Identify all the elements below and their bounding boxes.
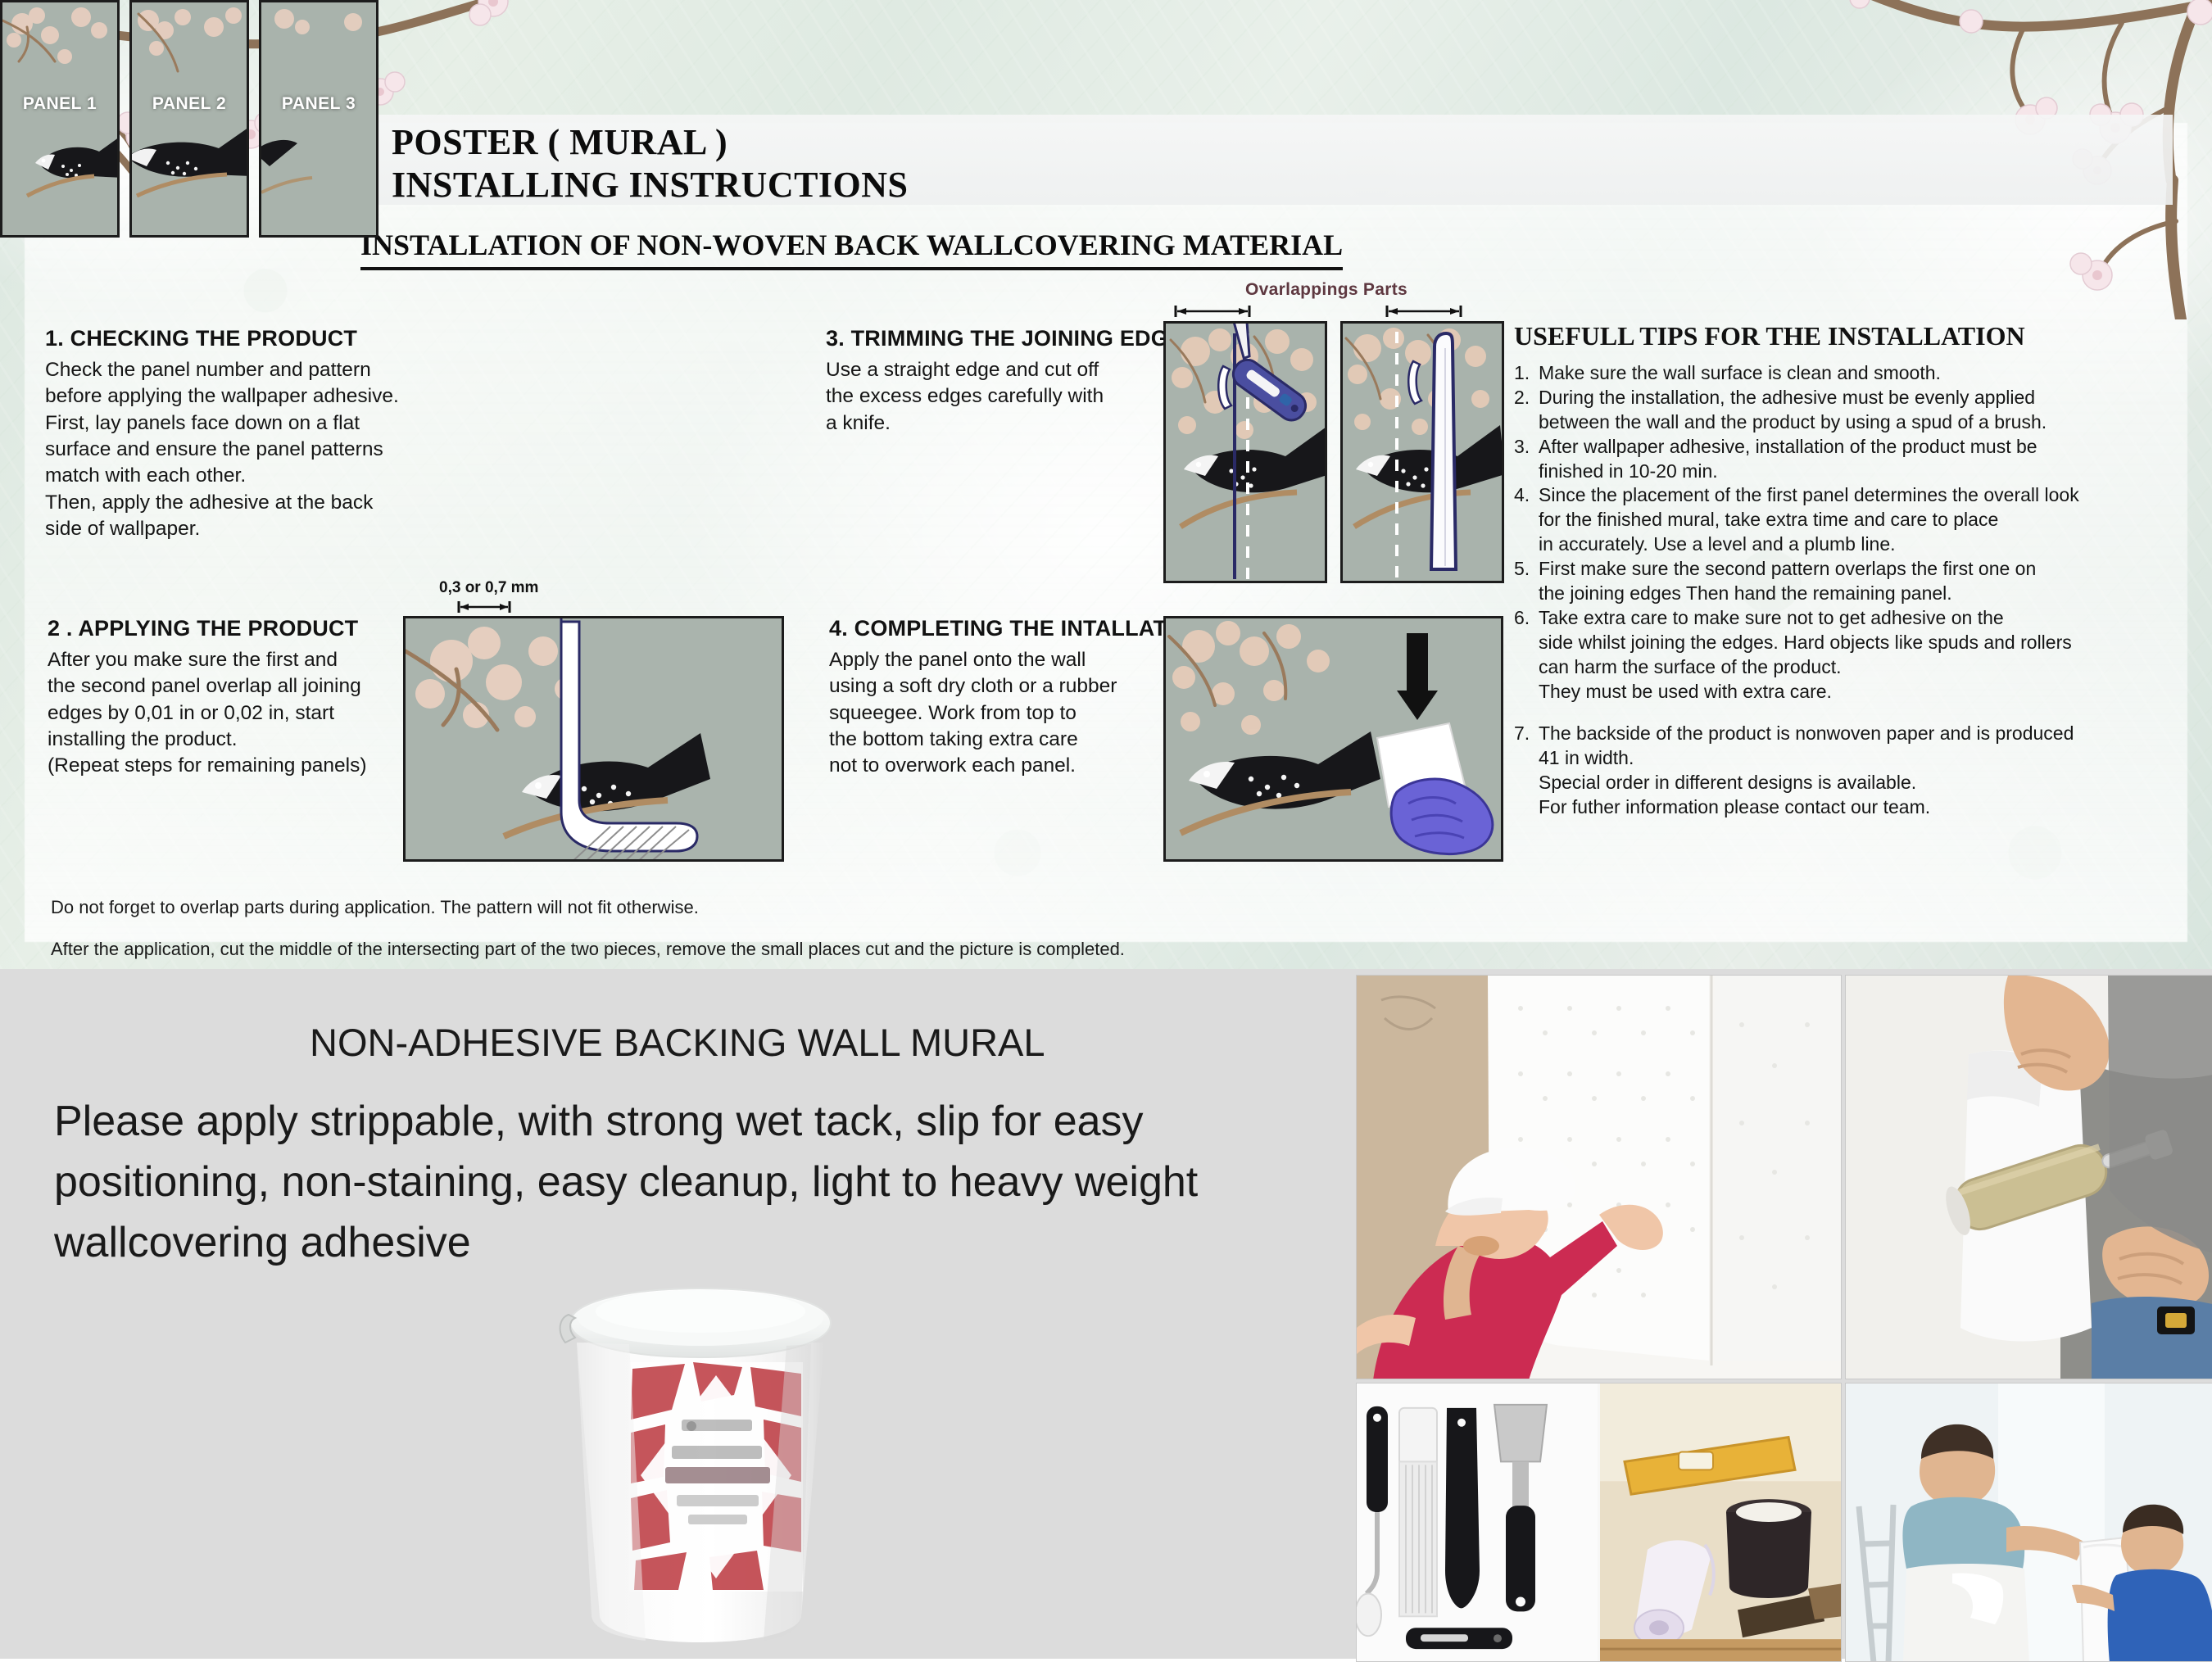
tip-number: 5. [1514, 557, 1539, 606]
step-1-title: 1. CHECKING THE PRODUCT [45, 326, 430, 351]
utility-knife-icon [1406, 1628, 1512, 1649]
poster-subtitle-wrap: INSTALLATION OF NON-WOVEN BACK WALLCOVER… [360, 228, 1385, 270]
mural-panel-1: PANEL 1 [0, 0, 120, 238]
tip-text: The backside of the product is nonwoven … [1539, 722, 2169, 820]
step-2-line: edges by 0,01 in or 0,02 in, start [48, 700, 433, 727]
tip-number: 3. [1514, 435, 1539, 484]
panels-illustration: PANEL 1 PANEL 2 [0, 0, 381, 238]
tips-spacer [1514, 704, 2169, 722]
step-applying-the-product: 2 . APPLYING THE PRODUCT After you make … [48, 616, 433, 780]
step-4-line: not to overwork each panel. [829, 753, 1173, 779]
completing-illustration [1163, 616, 1503, 862]
step-2-line: After you make sure the first and [48, 647, 433, 673]
dimension-arrow-icon [456, 600, 513, 614]
tip-number: 4. [1514, 483, 1539, 557]
poster-note: Do not forget to overlap parts during ap… [51, 897, 1689, 919]
step-trimming-the-joining-edges: 3. TRIMMING THE JOINING EDGES Use a stra… [826, 326, 1154, 437]
poster-footer-notes: Do not forget to overlap parts during ap… [51, 897, 1689, 969]
panel-3-label: PANEL 3 [261, 94, 376, 114]
poster-title: POSTER ( MURAL ) INSTALLING INSTRUCTIONS [392, 121, 1539, 206]
tip-text: After wallpaper adhesive, installation o… [1539, 435, 2169, 484]
tip-line: for the finished mural, take extra time … [1539, 508, 2169, 532]
bottom-heading: NON-ADHESIVE BACKING WALL MURAL [310, 1020, 1045, 1065]
step-4-line: the bottom taking extra care [829, 727, 1173, 753]
photo-woman-applying-paper [1356, 975, 1842, 1379]
poster-subtitle: INSTALLATION OF NON-WOVEN BACK WALLCOVER… [360, 228, 1343, 270]
product-description-section: NON-ADHESIVE BACKING WALL MURAL Please a… [0, 969, 2212, 1659]
brushes-artwork [1600, 1383, 1841, 1661]
tip-line: First make sure the second pattern overl… [1539, 557, 2169, 582]
tip-item: 3. After wallpaper adhesive, installatio… [1514, 435, 2169, 484]
photo-tool-set [1357, 1383, 1598, 1661]
step-4-line: using a soft dry cloth or a rubber [829, 673, 1173, 700]
useful-tips-section: USEFULL TIPS FOR THE INSTALLATION 1. Mak… [1514, 321, 2169, 820]
photo-brushes-and-paste [1600, 1383, 1841, 1661]
step-4-body: Apply the panel onto the wall using a so… [829, 647, 1173, 780]
step-3-title: 3. TRIMMING THE JOINING EDGES [826, 326, 1154, 351]
tip-item: 1. Make sure the wall surface is clean a… [1514, 361, 2169, 386]
trim-straightedge-artwork [1343, 324, 1504, 583]
photo-men-artwork [1846, 1383, 2212, 1662]
tip-line: Special order in different designs is av… [1539, 771, 2169, 795]
step-2-line: the second panel overlap all joining [48, 673, 433, 700]
overlapping-parts-caption: Ovarlappings Parts [1245, 280, 1407, 300]
step-4-line: Apply the panel onto the wall [829, 647, 1173, 673]
tip-line: Make sure the wall surface is clean and … [1539, 361, 2169, 386]
photo-two-men-hanging-paper [1845, 1383, 2212, 1662]
step-4-line: squeegee. Work from top to [829, 700, 1173, 727]
panel-2-artwork [132, 2, 249, 238]
trimming-illustration-straightedge [1340, 321, 1504, 583]
step-1-line: First, lay panels face down on a flat [45, 410, 430, 437]
step-3-body: Use a straight edge and cut off the exce… [826, 357, 1154, 437]
step-3-line: a knife. [826, 410, 1154, 437]
tip-number: 2. [1514, 386, 1539, 435]
step-3-line: the excess edges carefully with [826, 383, 1154, 410]
instruction-poster: POSTER ( MURAL ) INSTALLING INSTRUCTIONS… [0, 0, 2212, 969]
trim-knife-artwork [1166, 324, 1327, 583]
photo-woman-artwork [1357, 976, 1842, 1379]
bottom-paragraph-line: Please apply strippable, with strong wet… [54, 1092, 1349, 1153]
mural-panel-3: PANEL 3 [259, 0, 378, 238]
tip-line: can harm the surface of the product. [1539, 655, 2169, 680]
tip-text: Since the placement of the first panel d… [1539, 483, 2169, 557]
trimming-illustration-knife [1163, 321, 1327, 583]
tip-line: in accurately. Use a level and a plumb l… [1539, 532, 2169, 557]
tip-line: During the installation, the adhesive mu… [1539, 386, 2169, 410]
overlap-illustration [403, 616, 784, 862]
panel-2-label: PANEL 2 [132, 94, 247, 114]
step-4-title: 4. COMPLETING THE INTALLATION [829, 616, 1173, 641]
overlap-dimension-arrow-right-icon [1385, 305, 1463, 318]
panel-3-artwork [261, 2, 378, 238]
tip-line: After wallpaper adhesive, installation o… [1539, 435, 2169, 460]
tip-item: 6. Take extra care to make sure not to g… [1514, 606, 2169, 704]
step-2-line: installing the product. [48, 727, 433, 753]
photo-roller-artwork [1846, 976, 2212, 1379]
tip-line: Since the placement of the first panel d… [1539, 483, 2169, 508]
poster-note: After the application, cut the middle of… [51, 939, 1689, 961]
tip-line: 41 in width. [1539, 746, 2169, 771]
tip-text: During the installation, the adhesive mu… [1539, 386, 2169, 435]
tip-line: between the wall and the product by usin… [1539, 410, 2169, 435]
tip-item: 5. First make sure the second pattern ov… [1514, 557, 2169, 606]
panel-1-artwork [2, 2, 120, 238]
tip-line: They must be used with extra care. [1539, 680, 2169, 704]
tip-number: 6. [1514, 606, 1539, 704]
tip-item: 4. Since the placement of the first pane… [1514, 483, 2169, 557]
step-completing-the-installation: 4. COMPLETING THE INTALLATION Apply the … [829, 616, 1173, 780]
tip-line: Take extra care to make sure not to get … [1539, 606, 2169, 631]
step-2-line: (Repeat steps for remaining panels) [48, 753, 433, 779]
tip-text: First make sure the second pattern overl… [1539, 557, 2169, 606]
step-1-body: Check the panel number and pattern befor… [45, 357, 430, 542]
step-2-body: After you make sure the first and the se… [48, 647, 433, 780]
tip-number: 1. [1514, 361, 1539, 386]
tip-item: 7. The backside of the product is nonwov… [1514, 722, 2169, 820]
tips-title: USEFULL TIPS FOR THE INSTALLATION [1514, 321, 2169, 351]
smoothing-brush-icon [1399, 1408, 1437, 1616]
step-1-line: side of wallpaper. [45, 516, 430, 542]
step-checking-the-product: 1. CHECKING THE PRODUCT Check the panel … [45, 326, 430, 542]
step-1-line: Then, apply the adhesive at the back [45, 490, 430, 516]
bottom-paragraph: Please apply strippable, with strong wet… [54, 1092, 1349, 1273]
overlap-artwork [406, 618, 784, 862]
tip-line: The backside of the product is nonwoven … [1539, 722, 2169, 746]
tip-line: finished in 10-20 min. [1539, 460, 2169, 484]
bottom-paragraph-line: wallcovering adhesive [54, 1213, 1349, 1274]
mural-panel-2: PANEL 2 [129, 0, 249, 238]
panel-1-label: PANEL 1 [2, 94, 117, 114]
step-1-line: before applying the wallpaper adhesive. [45, 383, 430, 410]
overlap-dimension-arrow-left-icon [1173, 305, 1252, 318]
tip-line: the joining edges Then hand the remainin… [1539, 582, 2169, 606]
adhesive-bucket-image [541, 1272, 860, 1649]
plastic-smoother-icon [1445, 1408, 1480, 1609]
tip-text: Make sure the wall surface is clean and … [1539, 361, 2169, 386]
tip-text: Take extra care to make sure not to get … [1539, 606, 2169, 704]
bottom-paragraph-line: positioning, non-staining, easy cleanup,… [54, 1153, 1349, 1213]
tip-item: 2. During the installation, the adhesive… [1514, 386, 2169, 435]
photo-tools-row [1356, 1383, 1842, 1662]
overlap-dimension-label: 0,3 or 0,7 mm [439, 579, 538, 597]
tool-set-artwork [1357, 1383, 1598, 1661]
step-3-line: Use a straight edge and cut off [826, 357, 1154, 383]
completing-artwork [1166, 618, 1503, 862]
poster-title-line-1: POSTER ( MURAL ) [392, 121, 1539, 164]
tip-number: 7. [1514, 722, 1539, 820]
poster-title-line-2: INSTALLING INSTRUCTIONS [392, 164, 1539, 206]
tip-line: side whilst joining the edges. Hard obje… [1539, 631, 2169, 655]
step-2-title: 2 . APPLYING THE PRODUCT [48, 616, 433, 641]
step-1-line: Check the panel number and pattern [45, 357, 430, 383]
step-1-line: surface and ensure the panel patterns [45, 437, 430, 463]
photo-paste-roller [1845, 975, 2212, 1379]
tip-line: For futher information please contact ou… [1539, 795, 2169, 820]
installation-photo-collage [1356, 975, 2212, 1659]
step-1-line: match with each other. [45, 463, 430, 489]
